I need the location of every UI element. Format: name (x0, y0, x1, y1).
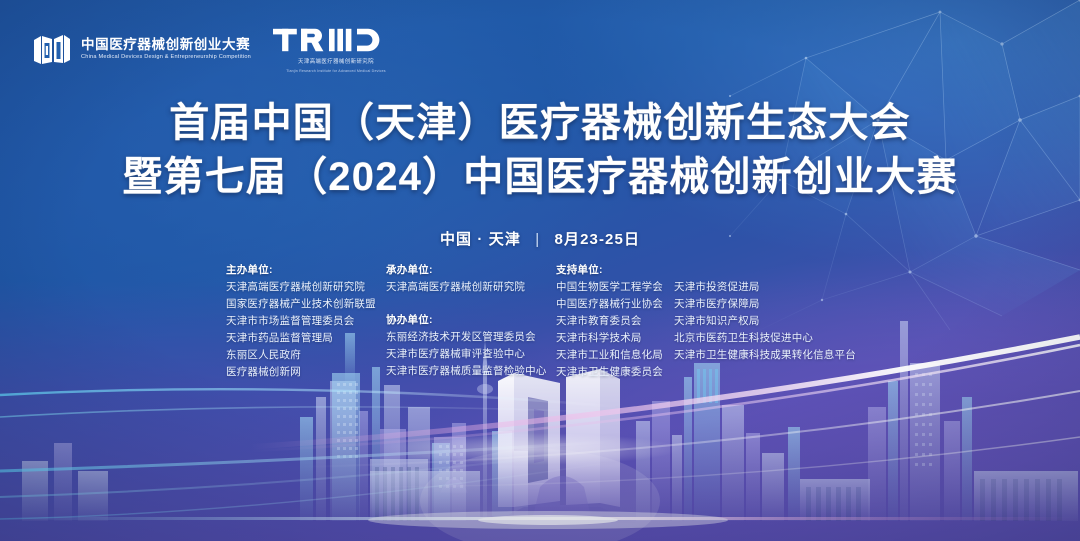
organizer-item: 中国生物医学工程学会 (556, 279, 674, 296)
organizers-column-2: 承办单位: 天津高端医疗器械创新研究院 协办单位: 东丽经济技术开发区管理委员会… (386, 262, 556, 380)
organizer-item: 天津市卫生健康委员会 (556, 364, 674, 381)
institute-logo[interactable]: 天津高端医疗器械创新研究院 Tianjin Research Institute… (273, 26, 399, 73)
title-line-2: 暨第七届（2024）中国医疗器械创新创业大赛 (0, 150, 1080, 204)
organizers-heading: 承办单位: (386, 262, 556, 279)
organizer-item: 东丽区人民政府 (226, 347, 386, 364)
organizer-item: 天津市教育委员会 (556, 313, 674, 330)
organizer-item: 天津市医疗保障局 (674, 296, 874, 313)
open-book-window-logo-icon (32, 30, 72, 70)
institute-logo-name-cn: 天津高端医疗器械创新研究院 (298, 57, 374, 65)
organizers-column-3: 支持单位: 中国生物医学工程学会 中国医疗器械行业协会 天津市教育委员会 天津市… (556, 262, 674, 381)
institute-logo-name-en: Tianjin Research Institute for Advanced … (286, 69, 385, 73)
organizer-item: 北京市医药卫生科技促进中心 (674, 330, 874, 347)
triid-wordmark-icon (273, 26, 399, 54)
organizer-item: 医疗器械创新网 (226, 364, 386, 381)
organizer-item: 国家医疗器械产业技术创新联盟 (226, 296, 386, 313)
organizer-item: 中国医疗器械行业协会 (556, 296, 674, 313)
competition-logo-name-en: China Medical Devices Design & Entrepren… (81, 55, 251, 61)
organizer-item: 天津高端医疗器械创新研究院 (226, 279, 386, 296)
organizer-item: 天津市医疗器械质量监督检验中心 (386, 363, 556, 380)
organizer-item: 天津市卫生健康科技成果转化信息平台 (674, 347, 874, 364)
organizer-item: 天津市科学技术局 (556, 330, 674, 347)
conference-banner: 中国医疗器械创新创业大赛 China Medical Devices Desig… (0, 0, 1080, 541)
organizer-item: 东丽经济技术开发区管理委员会 (386, 329, 556, 346)
competition-logo-name-cn: 中国医疗器械创新创业大赛 (81, 38, 251, 52)
event-info-bar: 中国 · 天津 | 8月23-25日 (0, 228, 1080, 249)
event-info-separator: | (535, 231, 540, 248)
header-logos: 中国医疗器械创新创业大赛 China Medical Devices Desig… (32, 26, 399, 73)
organizer-item: 天津市市场监督管理委员会 (226, 313, 386, 330)
organizers-column-1: 主办单位: 天津高端医疗器械创新研究院 国家医疗器械产业技术创新联盟 天津市市场… (226, 262, 386, 381)
organizer-item: 天津市工业和信息化局 (556, 347, 674, 364)
main-title: 首届中国（天津）医疗器械创新生态大会 暨第七届（2024）中国医疗器械创新创业大… (0, 96, 1080, 205)
event-date: 8月23-25日 (555, 231, 641, 248)
organizers-heading: 协办单位: (386, 312, 556, 329)
organizer-item: 天津市知识产权局 (674, 313, 874, 330)
title-line-1: 首届中国（天津）医疗器械创新生态大会 (0, 96, 1080, 150)
organizer-item: 天津市投资促进局 (674, 279, 874, 296)
organizers-section: 主办单位: 天津高端医疗器械创新研究院 国家医疗器械产业技术创新联盟 天津市市场… (226, 262, 874, 381)
organizers-heading: 主办单位: (226, 262, 386, 279)
organizer-item: 天津市药品监督管理局 (226, 330, 386, 347)
organizers-heading: 支持单位: (556, 262, 674, 279)
event-location: 中国 · 天津 (440, 231, 521, 248)
organizers-heading-placeholder (674, 262, 874, 279)
organizers-column-spacer (386, 296, 556, 312)
competition-logo[interactable]: 中国医疗器械创新创业大赛 China Medical Devices Desig… (32, 30, 251, 70)
organizer-item: 天津高端医疗器械创新研究院 (386, 279, 556, 296)
organizers-column-4: 天津市投资促进局 天津市医疗保障局 天津市知识产权局 北京市医药卫生科技促进中心… (674, 262, 874, 364)
organizer-item: 天津市医疗器械审评查验中心 (386, 346, 556, 363)
